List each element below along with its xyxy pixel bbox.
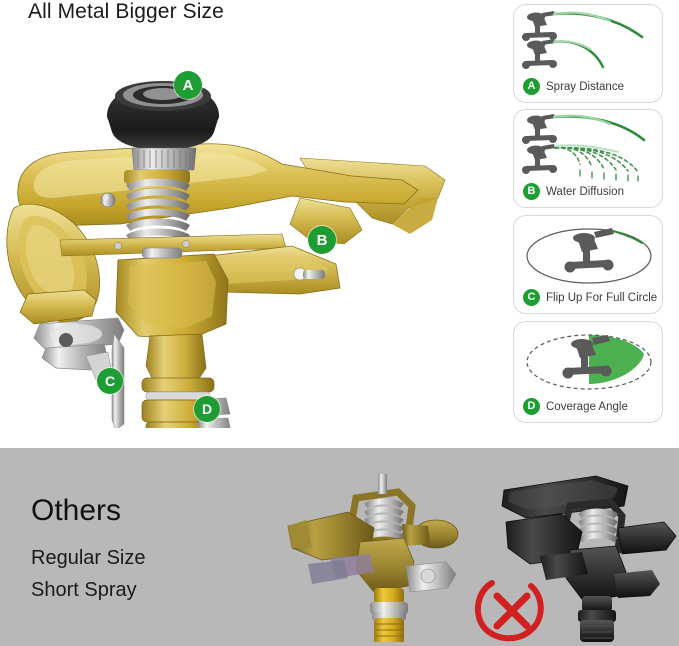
feature-card-label: B Water Diffusion (523, 183, 624, 200)
feature-card-label: A Spray Distance (523, 78, 624, 95)
card-badge-a: A (523, 78, 540, 95)
water-diffusion-art (514, 110, 663, 182)
hero-product-image (0, 48, 470, 428)
card-text-b: Water Diffusion (546, 186, 624, 198)
comparison-line-2: Short Spray (31, 579, 137, 602)
red-x-circle-icon (473, 574, 551, 646)
feature-card-spray-distance[interactable]: A Spray Distance (513, 4, 663, 103)
page-title: All Metal Bigger Size (28, 0, 224, 24)
coverage-angle-art (514, 322, 663, 394)
comparison-line-1: Regular Size (31, 547, 146, 570)
product-infographic: All Metal Bigger Size (0, 0, 679, 646)
marker-a-adjustment-knob[interactable]: A (174, 71, 202, 99)
card-text-d: Coverage Angle (546, 401, 628, 413)
card-text-a: Spray Distance (546, 81, 624, 93)
marker-d-coverage-tabs[interactable]: D (194, 396, 220, 422)
flip-up-full-circle-art (514, 216, 663, 288)
card-text-c: Flip Up For Full Circle (546, 292, 657, 304)
feature-card-water-diffusion[interactable]: B Water Diffusion (513, 109, 663, 208)
feature-card-flip-up-full-circle[interactable]: C Flip Up For Full Circle (513, 215, 663, 314)
feature-card-label: C Flip Up For Full Circle (523, 289, 657, 306)
card-badge-b: B (523, 183, 540, 200)
marker-c-trip-lever[interactable]: C (97, 368, 123, 394)
card-badge-d: D (523, 398, 540, 415)
comparison-section: Others Regular Size Short Spray (0, 448, 679, 646)
comparison-title: Others (31, 494, 121, 528)
others-brass-sprinkler (278, 462, 478, 642)
marker-b-diffusion-screw[interactable]: B (308, 226, 336, 254)
card-badge-c: C (523, 289, 540, 306)
feature-card-label: D Coverage Angle (523, 398, 628, 415)
feature-card-coverage-angle[interactable]: D Coverage Angle (513, 321, 663, 423)
spray-distance-art (514, 5, 663, 77)
feature-card-list: A Spray Distance (513, 4, 665, 432)
hero-section: All Metal Bigger Size (0, 0, 679, 448)
